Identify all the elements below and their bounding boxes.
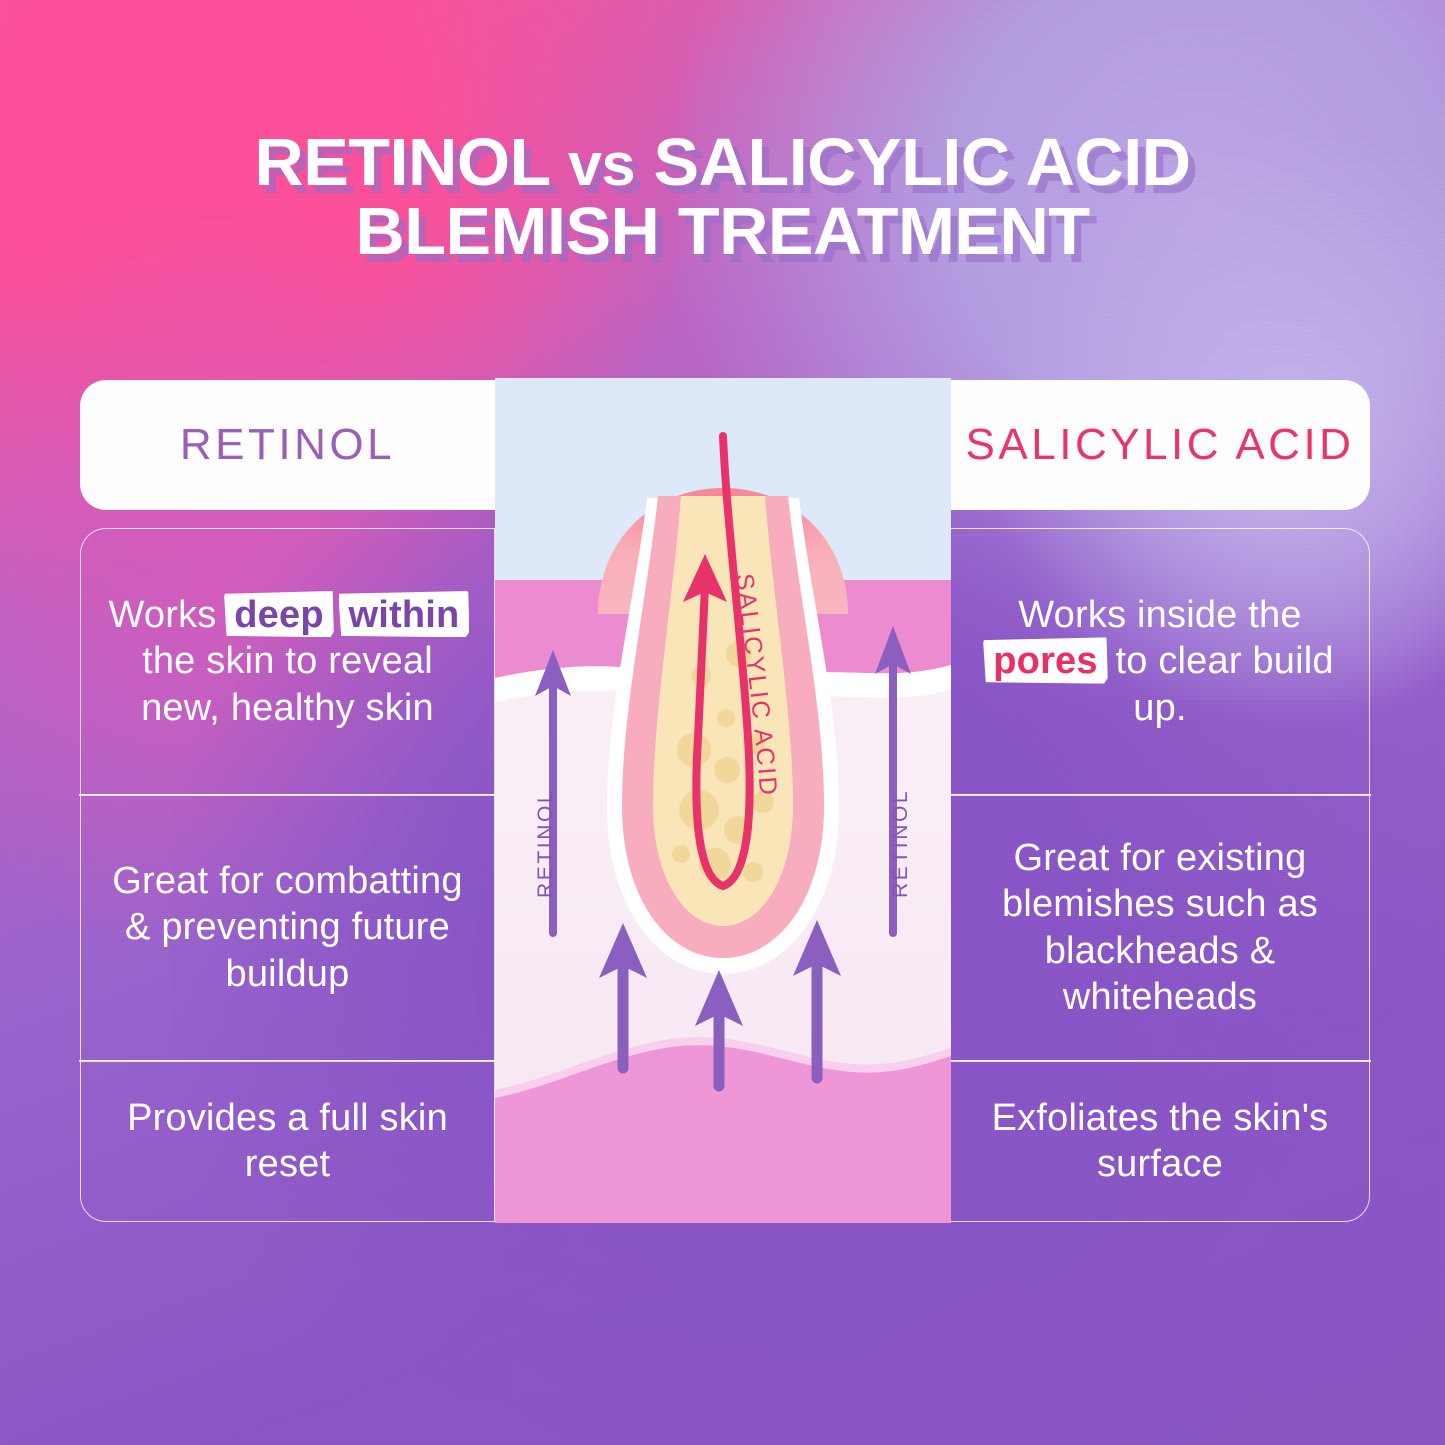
highlight-pores: pores (986, 638, 1104, 684)
retinol-benefit-card-1: Works deep within the skin to reveal new… (80, 528, 495, 794)
pore-cross-section-diagram: SALICYLIC ACID (495, 378, 951, 1223)
highlight-within: within (342, 592, 467, 638)
page-title: RETINOL vs SALICYLIC ACID BLEMISH TREATM… (0, 128, 1445, 266)
retinol-benefit-text-2: Great for combatting & preventing future… (103, 858, 472, 997)
text-pre: Works inside the (1018, 594, 1301, 636)
retinol-label-left: RETINOL (534, 789, 558, 898)
title-retinol: RETINOL (254, 125, 549, 200)
retinol-benefit-card-3: Provides a full skin reset (80, 1060, 495, 1222)
text-post: the skin to reveal new, healthy skin (141, 640, 434, 728)
salicylic-benefit-card-3: Exfoliates the skin's surface (950, 1060, 1370, 1222)
column-header-salicylic-label: SALICYLIC ACID (966, 421, 1355, 469)
pore-diagram-svg: SALICYLIC ACID (495, 378, 951, 1223)
column-header-retinol: RETINOL (80, 380, 495, 510)
salicylic-benefit-text-1: Works inside the pores to clear build up… (973, 592, 1347, 731)
title-vs: vs (568, 131, 635, 198)
title-line-1: RETINOL vs SALICYLIC ACID (0, 128, 1445, 197)
salicylic-benefit-text-2: Great for existing blemishes such as bla… (973, 835, 1347, 1020)
text-post: to clear build up. (1105, 640, 1334, 728)
title-salicylic-acid: SALICYLIC ACID (654, 125, 1191, 200)
retinol-benefit-text-1: Works deep within the skin to reveal new… (103, 592, 472, 731)
salicylic-benefit-text-3: Exfoliates the skin's surface (973, 1095, 1347, 1188)
salicylic-benefit-card-2: Great for existing blemishes such as bla… (950, 794, 1370, 1060)
retinol-benefit-card-2: Great for combatting & preventing future… (80, 794, 495, 1060)
column-header-retinol-label: RETINOL (180, 421, 395, 469)
title-line-2: BLEMISH TREATMENT (0, 197, 1445, 266)
highlight-deep: deep (227, 592, 331, 638)
retinol-benefit-text-3: Provides a full skin reset (103, 1095, 472, 1188)
salicylic-benefit-card-1: Works inside the pores to clear build up… (950, 528, 1370, 794)
retinol-label-right: RETINOL (889, 789, 913, 898)
column-header-salicylic: SALICYLIC ACID (950, 380, 1370, 510)
text-pre: Works (109, 594, 228, 636)
